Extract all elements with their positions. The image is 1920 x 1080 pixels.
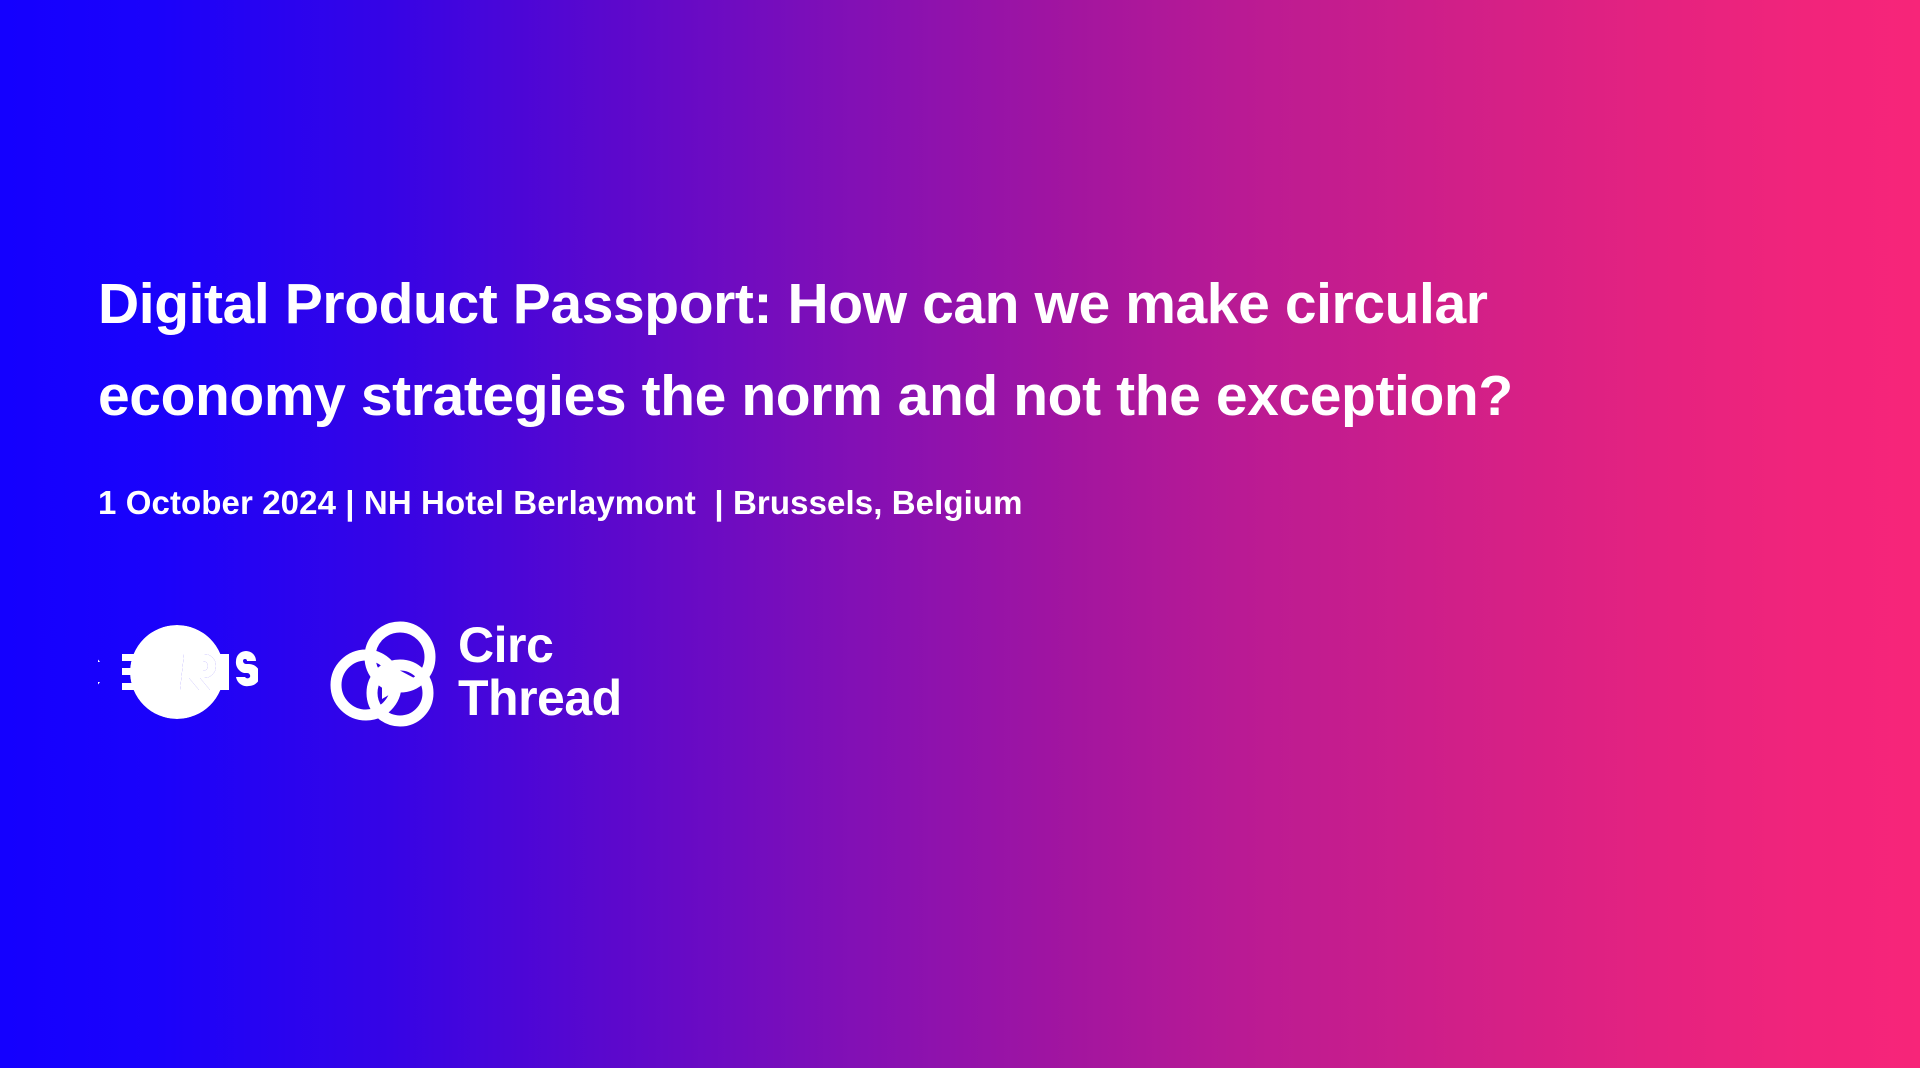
ce-rise-logo	[98, 616, 258, 728]
circthread-word-thread: Thread	[458, 671, 622, 725]
circthread-wordmark: Circ Thread	[458, 619, 622, 725]
event-details: 1 October 2024 | NH Hotel Berlaymont | B…	[98, 484, 1023, 522]
page-title: Digital Product Passport: How can we mak…	[98, 258, 1798, 442]
circthread-logo: Circ Thread	[324, 612, 622, 732]
slide-content: Digital Product Passport: How can we mak…	[98, 0, 1828, 1068]
bottom-white-strip	[0, 1068, 1920, 1080]
title-line-2: economy strategies the norm and not the …	[98, 350, 1798, 442]
circthread-word-circ: Circ	[458, 619, 622, 671]
logo-row: Circ Thread	[98, 612, 622, 732]
event-title-slide: Digital Product Passport: How can we mak…	[0, 0, 1920, 1080]
title-line-1: Digital Product Passport: How can we mak…	[98, 258, 1798, 350]
circthread-knot-icon	[324, 613, 442, 731]
ce-rise-mark	[98, 616, 258, 728]
